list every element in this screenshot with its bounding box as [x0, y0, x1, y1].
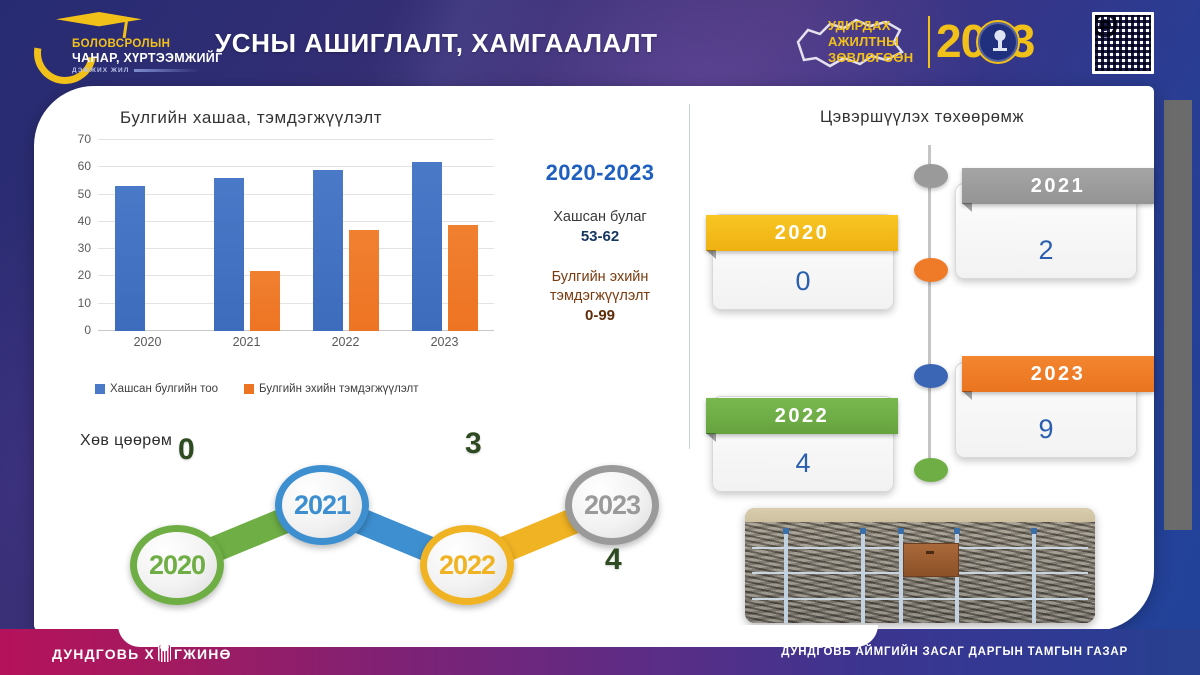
summary-metric-2-value: 0-99 [520, 306, 680, 325]
legend-swatch [244, 384, 254, 394]
timeline-dot [914, 258, 948, 282]
event-line-2: АЖИЛТНЫ [828, 34, 924, 50]
chart-bar-group [296, 140, 395, 331]
event-divider [928, 16, 930, 68]
chart-x-axis: 2020202120222023 [98, 331, 494, 355]
chart-y-tick: 30 [78, 241, 91, 255]
chart-legend-item: Хашсан булгийн тоо [95, 383, 218, 395]
chain-node-2023[interactable]: 2023 [565, 465, 659, 545]
chart-x-tick: 2020 [134, 335, 162, 349]
chart-bar [448, 225, 478, 331]
chart-legend-item: Булгийн эхийн тэмдэгжүүлэлт [244, 383, 418, 395]
panel-divider [689, 104, 690, 449]
footer-left-text: ДУНДГОВЬ ХГЖИНӨ [52, 645, 232, 662]
chart-bar [412, 162, 442, 331]
treatment-card-value: 4 [713, 448, 893, 479]
footer-right-text: ДУНДГОВЬ АЙМГИЙН ЗАСАГ ДАРГЫН ТАМГЫН ГАЗ… [781, 646, 1128, 658]
chart-y-tick: 40 [78, 214, 91, 228]
summary-metric-2: Булгийн эхийн тэмдэгжүүлэлт 0-99 [520, 268, 680, 325]
chain-node-2022[interactable]: 2022 [420, 525, 514, 605]
chart-bar [313, 170, 343, 331]
summary-metric-1-value: 53-62 [520, 227, 680, 246]
chart-y-tick: 60 [78, 159, 91, 173]
pond-chain-diagram: 2020202120222023034 [120, 455, 700, 625]
legend-label: Хашсан булгийн тоо [110, 383, 218, 395]
timeline-dot [914, 164, 948, 188]
treatment-card-year-ribbon: 2020 [706, 215, 898, 251]
treatment-card-year-ribbon: 2021 [962, 168, 1154, 204]
qr-code-icon[interactable] [1092, 12, 1154, 74]
pond-section-title: Хөв цөөрөм [80, 432, 172, 450]
logo-line-3: ДЭМЖИХ ЖИЛ [72, 66, 212, 76]
event-logo: УДИРДАХ АЖИЛТНЫ ЗӨВЛӨГӨӨН 2023 [790, 4, 1060, 82]
bar-chart: 010203040506070 2020202120222023 [60, 140, 500, 355]
fence-sign [903, 543, 959, 577]
chain-value: 0 [178, 433, 195, 467]
event-line-3: ЗӨВЛӨГӨӨН [828, 50, 924, 66]
treatment-card-year-ribbon: 2022 [706, 398, 898, 434]
education-year-logo: БОЛОВСРОЛЫН ЧАНАР, ХҮРТЭЭМЖИЙГ ДЭМЖИХ ЖИ… [28, 6, 200, 84]
chart-x-tick: 2023 [431, 335, 459, 349]
chart-x-tick: 2022 [332, 335, 360, 349]
treatment-card-value: 9 [956, 414, 1136, 445]
chart-bar-group [197, 140, 296, 331]
chain-value: 3 [465, 427, 482, 461]
event-line-1: УДИРДАХ [828, 18, 924, 34]
chain-node-2020[interactable]: 2020 [130, 525, 224, 605]
logo-line-1: БОЛОВСРОЛЫН [72, 38, 212, 51]
chart-legend: Хашсан булгийн тооБулгийн эхийн тэмдэгжү… [95, 383, 418, 395]
timeline-axis [928, 145, 931, 480]
spring-fence-photo [745, 508, 1095, 623]
chart-bar-group [395, 140, 494, 331]
treatment-section-title: Цэвэршүүлэх төхөөрөмж [820, 108, 1024, 127]
soyombo-emblem-icon [976, 20, 1020, 64]
chart-bar [115, 186, 145, 331]
treatment-card-value: 2 [956, 235, 1136, 266]
logo-line-2: ЧАНАР, ХҮРТЭЭМЖИЙГ [72, 51, 212, 66]
chart-bar [214, 178, 244, 331]
chart-y-tick: 70 [78, 132, 91, 146]
treatment-card-year-ribbon: 2023 [962, 356, 1154, 392]
timeline-dot [914, 458, 948, 482]
chart-title: Булгийн хашаа, тэмдэгжүүлэлт [120, 108, 382, 128]
summary-block: 2020-2023 Хашсан булаг 53-62 Булгийн эхи… [520, 160, 680, 325]
chain-value: 4 [605, 543, 622, 577]
chart-y-tick: 0 [84, 323, 91, 337]
soyombo-mark-icon [158, 645, 171, 662]
summary-metric-2-label: Булгийн эхийн тэмдэгжүүлэлт [550, 269, 650, 304]
right-side-strip [1164, 100, 1192, 530]
chart-y-tick: 10 [78, 296, 91, 310]
chart-y-tick: 20 [78, 268, 91, 282]
legend-label: Булгийн эхийн тэмдэгжүүлэлт [259, 383, 418, 395]
chart-bar-group [98, 140, 197, 331]
chart-bar [349, 230, 379, 331]
page-title: УСНЫ АШИГЛАЛТ, ХАМГААЛАЛТ [215, 28, 658, 59]
chart-plot-area: 010203040506070 [98, 140, 494, 331]
summary-metric-1-label: Хашсан булаг [553, 209, 646, 225]
legend-swatch [95, 384, 105, 394]
chart-bar [250, 271, 280, 331]
summary-metric-1: Хашсан булаг 53-62 [520, 208, 680, 246]
chart-y-tick: 50 [78, 187, 91, 201]
treatment-card-value: 0 [713, 266, 893, 297]
slide-header: БОЛОВСРОЛЫН ЧАНАР, ХҮРТЭЭМЖИЙГ ДЭМЖИХ ЖИ… [0, 0, 1200, 88]
chain-node-2021[interactable]: 2021 [275, 465, 369, 545]
timeline-dot [914, 364, 948, 388]
chart-x-tick: 2021 [233, 335, 261, 349]
slide-footer: ДУНДГОВЬ ХГЖИНӨ ДУНДГОВЬ АЙМГИЙН ЗАСАГ Д… [0, 629, 1200, 675]
summary-range: 2020-2023 [520, 160, 680, 186]
